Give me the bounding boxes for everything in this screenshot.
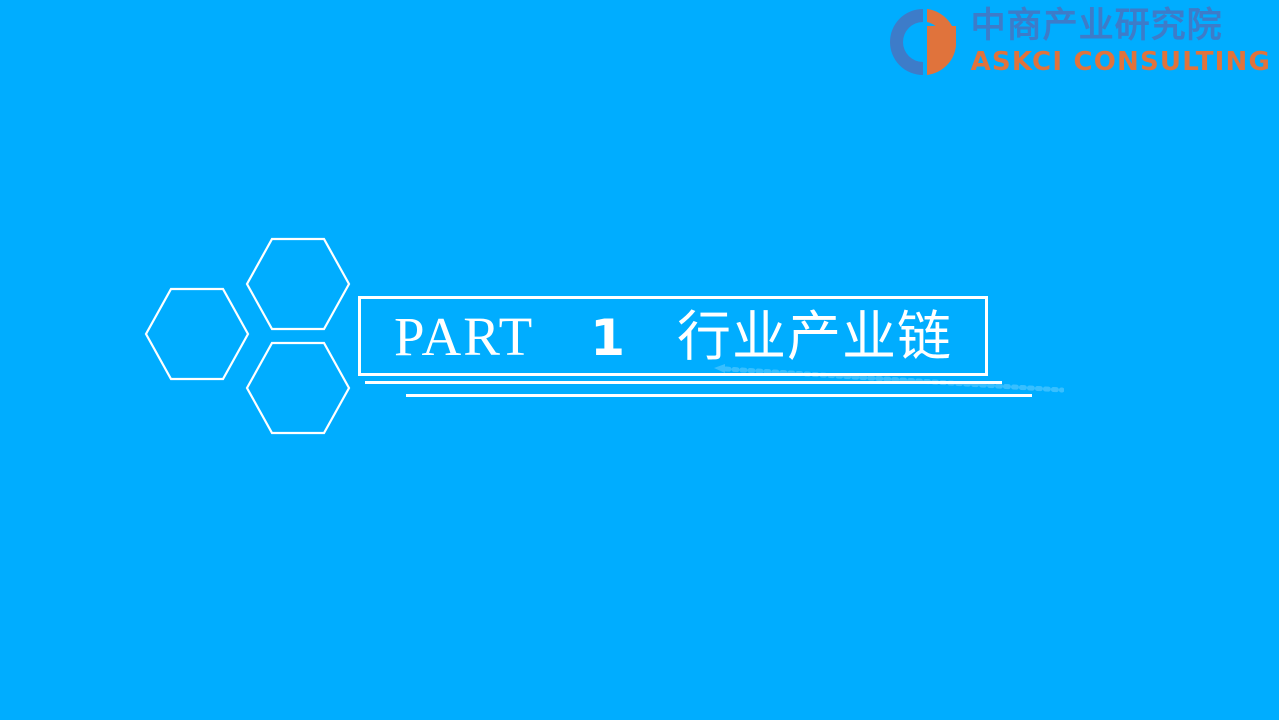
title-block: PART 1 行业产业链 (358, 296, 988, 376)
askci-logo-icon (887, 6, 961, 78)
title-part-number: 1 (590, 313, 625, 363)
page-title: 行业产业链 (677, 310, 952, 364)
brand-text: 中商产业研究院 ASKCI CONSULTING (971, 9, 1271, 75)
title-part-label: PART (394, 309, 534, 364)
hexagon-upper-right (243, 237, 353, 331)
decorative-rule-lower (406, 394, 1032, 397)
hexagon-left (144, 287, 250, 381)
brand-logo: 中商产业研究院 ASKCI CONSULTING (887, 6, 1271, 78)
hexagon-cluster (140, 232, 365, 442)
decorative-rule-upper (365, 381, 1002, 384)
title-line: PART 1 行业产业链 (394, 309, 952, 364)
brand-name-en: ASKCI CONSULTING (971, 49, 1271, 75)
brand-name-cn: 中商产业研究院 (971, 9, 1271, 44)
hexagon-lower-right (243, 341, 353, 435)
title-box: PART 1 行业产业链 (358, 296, 988, 376)
slide-root: 中商产业研究院 ASKCI CONSULTING PART 1 行业产业链 (0, 0, 1279, 720)
